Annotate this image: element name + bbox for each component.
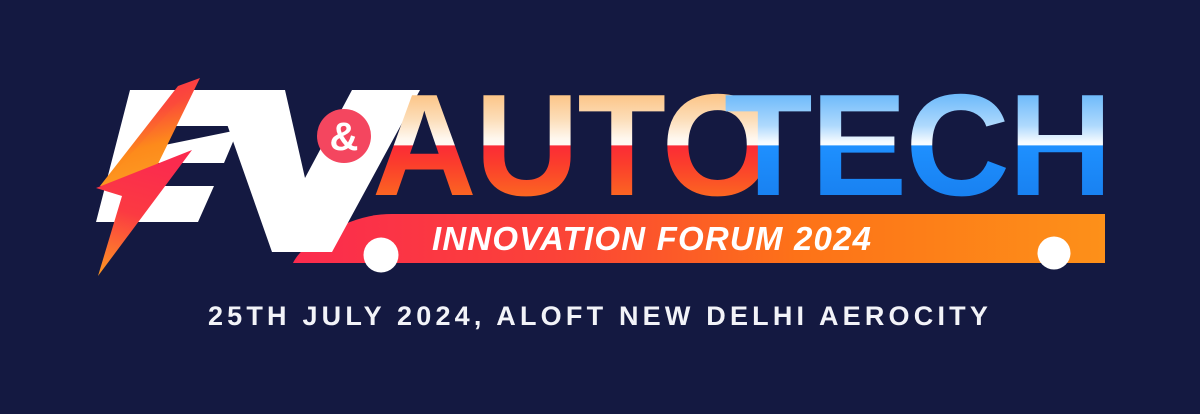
event-logo-banner: INNOVATION FORUM 2024 AUTO TECH & — [0, 0, 1200, 414]
wordmark-tech: TECH — [724, 64, 1111, 226]
event-details-label: 25TH JULY 2024, ALOFT NEW DELHI AEROCITY — [208, 301, 992, 331]
ampersand-badge: & — [317, 109, 371, 163]
ev-autotech-logo: INNOVATION FORUM 2024 AUTO TECH & — [0, 0, 1200, 414]
wordmark-tech-label: TECH — [724, 64, 1111, 226]
ribbon-wheel-left — [364, 238, 399, 273]
ribbon-wheel-right — [1038, 237, 1071, 270]
wordmark-auto-label: AUTO — [372, 64, 772, 226]
ampersand-symbol: & — [330, 115, 359, 159]
wordmark-auto: AUTO — [372, 64, 772, 226]
